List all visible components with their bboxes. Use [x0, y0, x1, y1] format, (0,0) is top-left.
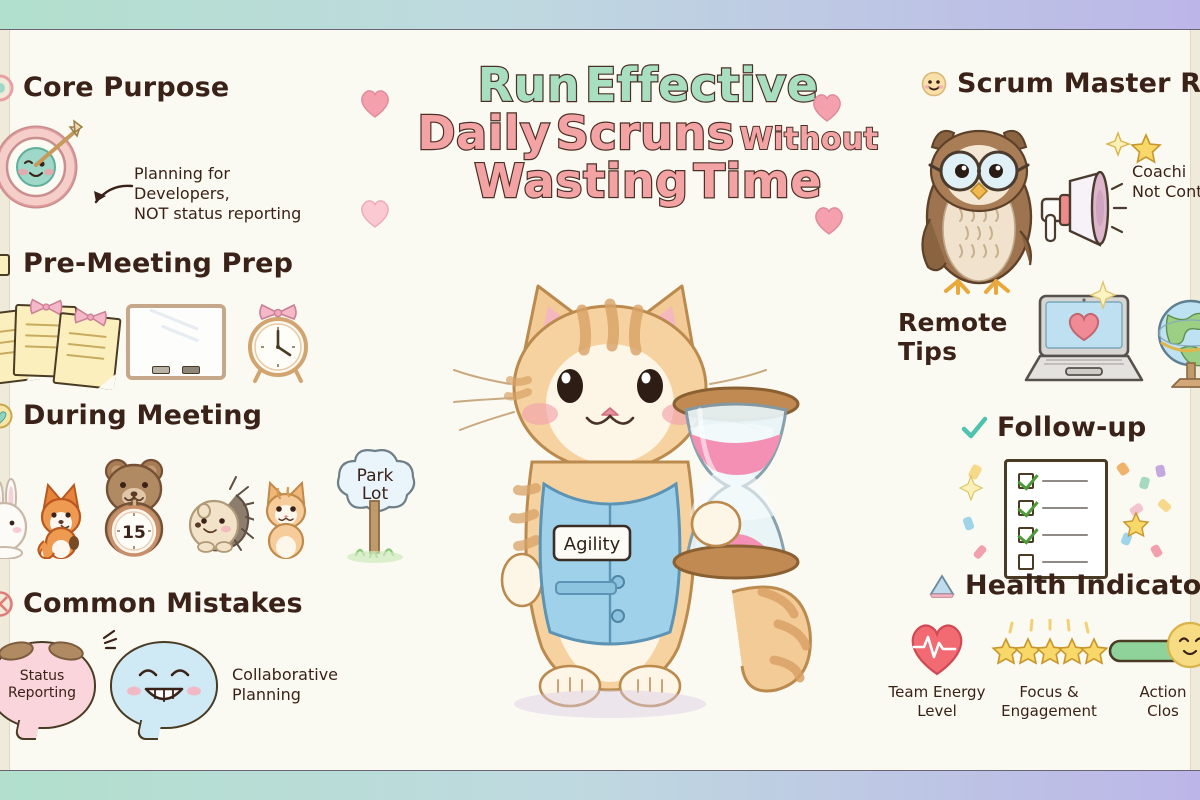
sticky-note: [52, 312, 121, 390]
infographic-poster: Run Effective Daily Scruns Without Wasti…: [0, 0, 1200, 800]
stopwatch-value: 15: [122, 523, 146, 543]
follow-up-heading: Follow-up: [997, 412, 1146, 443]
droopy-eyes-icon: [0, 637, 88, 663]
scrum-master-role-heading: Scrum Master Ro: [957, 68, 1200, 99]
bow-icon: [29, 296, 64, 317]
checkbox-checked[interactable]: [1018, 473, 1034, 489]
confetti: [1150, 544, 1164, 559]
health-indicators-heading: Health Indicators: [965, 570, 1200, 601]
title-word-wasting: Wasting: [474, 154, 688, 208]
sticky-notes-group: [0, 299, 112, 385]
mountain-icon: [928, 572, 956, 600]
poster-canvas: Run Effective Daily Scruns Without Wasti…: [0, 30, 1200, 770]
heart-icon: [358, 198, 392, 229]
bow-icon: [73, 305, 109, 328]
whiteboard-icon: [126, 304, 226, 380]
core-purpose-heading: Core Purpose: [23, 72, 229, 103]
remote-tips-heading-line-1: Remote: [898, 309, 1008, 338]
title-line-3: Wasting Time: [398, 158, 898, 206]
excitement-lines-icon: [92, 629, 120, 655]
title-word-time: Time: [694, 154, 822, 208]
pre-meeting-prep-header: Pre-Meeting Prep: [0, 248, 316, 279]
five-stars-icon: [990, 619, 1108, 677]
common-mistakes-heading: Common Mistakes: [23, 588, 303, 619]
park-lot-sign: Park Lot: [326, 443, 424, 563]
health-indicators-header: Health Indicators: [928, 570, 1200, 601]
remote-tips-heading-line-2: Tips: [898, 338, 1008, 367]
check-mark-icon: [960, 414, 988, 442]
checklist-group: [1004, 459, 1200, 579]
heart-icon: [358, 88, 392, 119]
whiteboard-glare: [149, 308, 198, 330]
whiteboard-eraser: [182, 366, 200, 374]
during-meeting-header: During Meeting: [0, 400, 366, 431]
animal-kitten: [256, 463, 318, 563]
confetti: [1115, 461, 1130, 477]
checklist-item[interactable]: [1018, 473, 1105, 489]
section-core-purpose: Core Purpose: [0, 72, 316, 213]
confetti: [1139, 476, 1151, 490]
smiling-target-icon: [0, 117, 88, 213]
indicator-focus-line-1: Focus &: [1001, 683, 1097, 702]
indicator-team-energy-line-2: Level: [889, 702, 986, 721]
scrum-master-role-header: Scrum Master Ro: [920, 68, 1200, 99]
pre-meeting-prep-icons: [0, 299, 316, 385]
scrum-master-note-line-2: Not Contr: [1132, 182, 1200, 202]
confetti: [1157, 498, 1173, 513]
indicator-team-energy-line-1: Team Energy: [889, 683, 986, 702]
scrum-master-note: Coachi Not Contr: [1132, 162, 1200, 202]
indicator-action-caption: Action Clos: [1140, 683, 1187, 721]
section-pre-meeting-prep: Pre-Meeting Prep: [0, 248, 316, 385]
collaborative-planning-label: Collaborative Planning: [232, 665, 366, 705]
indicator-action-line-1: Action: [1140, 683, 1187, 702]
title-word-run: Run: [478, 58, 580, 112]
section-common-mistakes: Common Mistakes Status Reporting: [0, 588, 366, 729]
heart-pulse-icon: [906, 619, 968, 677]
target-icon: [0, 74, 14, 102]
sign-line-2: Lot: [362, 484, 389, 504]
follow-up-header: Follow-up: [960, 412, 1200, 443]
checkbox-checked[interactable]: [1018, 500, 1034, 516]
title-word-effective: Effective: [585, 58, 818, 112]
confetti: [1155, 464, 1166, 478]
core-purpose-note-line-3: NOT status reporting: [134, 204, 324, 224]
indicator-focus-engagement: Focus & Engagement: [990, 619, 1108, 721]
sparkle-icon: [1088, 280, 1118, 310]
heart-icon: [812, 205, 846, 236]
smiling-face-icon: [122, 657, 206, 713]
common-mistakes-header: Common Mistakes: [0, 588, 366, 619]
globe-icon: [1150, 295, 1200, 381]
collaborative-planning-bubble-wrap: [110, 641, 218, 729]
checklist-item[interactable]: [1018, 527, 1105, 543]
vest-name-tag-label: Agility: [564, 534, 621, 555]
pre-meeting-prep-heading: Pre-Meeting Prep: [23, 248, 293, 279]
heart-badge-icon: [0, 402, 14, 430]
mascot-agility-cat: Agility: [432, 262, 832, 736]
prohibition-icon: [0, 590, 14, 618]
checklist-line: [1042, 507, 1088, 510]
indicator-team-energy-caption: Team Energy Level: [889, 683, 986, 721]
indicator-focus-caption: Focus & Engagement: [1001, 683, 1097, 721]
megaphone-icon: [1038, 171, 1130, 247]
sign-line-1: Park: [357, 466, 394, 486]
indicator-action-closure: Action Clos: [1108, 619, 1200, 721]
owl-group: [920, 109, 1200, 303]
collaborative-planning-bubble: [110, 641, 218, 729]
health-indicator-list: Team Energy Level: [884, 619, 1200, 721]
core-purpose-note-line-1: Planning for: [134, 164, 324, 184]
confetti: [972, 544, 987, 560]
section-health-indicators: Health Indicators Team Energy Level: [928, 570, 1200, 721]
bottom-border-band: [0, 770, 1200, 800]
section-during-meeting: During Meeting: [0, 400, 366, 563]
remote-tips-body: Remote Tips: [898, 292, 1200, 384]
core-purpose-note: Planning for Developers, NOT status repo…: [134, 164, 324, 224]
status-reporting-text: Status Reporting: [8, 668, 76, 702]
checklist-line: [1042, 561, 1088, 564]
progress-bar-smiley-icon: [1108, 619, 1200, 677]
collaborative-planning-line-1: Collaborative: [232, 665, 366, 685]
status-reporting-line-2: Reporting: [8, 685, 76, 702]
sparkle-icon: [958, 475, 984, 501]
confetti: [962, 516, 975, 531]
remote-tips-heading: Remote Tips: [898, 309, 1008, 367]
during-meeting-animals: 15: [0, 443, 366, 563]
section-follow-up: Follow-up: [960, 412, 1200, 579]
checklist-line: [1042, 534, 1088, 537]
star-icon: [1122, 511, 1150, 539]
collaborative-planning-line-2: Planning: [232, 685, 366, 705]
animal-rabbit: [0, 463, 30, 563]
laptop-with-heart-icon: [1018, 292, 1146, 384]
sticky-note-lines: [65, 332, 106, 369]
core-purpose-header: Core Purpose: [0, 72, 316, 103]
smiley-face-icon: [920, 70, 948, 98]
section-remote-tips: Remote Tips: [898, 292, 1200, 384]
pointer-arrow-icon: [78, 180, 134, 218]
checkbox-unchecked[interactable]: [1018, 554, 1034, 570]
checklist-icon: [1004, 459, 1108, 579]
status-reporting-line-1: Status: [8, 668, 76, 685]
animal-hedgehog: [182, 463, 254, 563]
checklist-item[interactable]: [1018, 500, 1105, 516]
heart-icon: [810, 92, 844, 123]
indicator-team-energy-level: Team Energy Level: [884, 619, 990, 721]
poster-title: Run Effective Daily Scruns Without Wasti…: [398, 62, 898, 205]
section-scrum-master-role: Scrum Master Ro: [920, 68, 1200, 303]
whiteboard-marker: [152, 366, 170, 374]
title-word-without: Without: [740, 122, 879, 157]
common-mistakes-bubbles: Status Reporting: [0, 641, 366, 729]
title-word-daily: Daily: [417, 106, 550, 160]
checklist-line: [1042, 480, 1088, 483]
status-reporting-bubble-wrap: Status Reporting: [0, 641, 96, 729]
indicator-action-line-2: Clos: [1140, 702, 1187, 721]
title-word-scruns: Scruns: [556, 106, 735, 160]
hourglass-icon: [674, 388, 798, 578]
animal-fox: [32, 463, 90, 563]
core-purpose-note-line-2: Developers,: [134, 184, 324, 204]
top-border-band: [0, 0, 1200, 30]
during-meeting-heading: During Meeting: [23, 400, 262, 431]
sticky-note-icon: [0, 250, 14, 278]
checklist-item[interactable]: [1018, 554, 1105, 570]
indicator-focus-line-2: Engagement: [1001, 702, 1097, 721]
checkbox-checked[interactable]: [1018, 527, 1034, 543]
scrum-master-note-line-1: Coachi: [1132, 162, 1200, 182]
animal-bear-with-stopwatch: 15: [92, 445, 180, 563]
alarm-clock-icon: [240, 299, 316, 385]
